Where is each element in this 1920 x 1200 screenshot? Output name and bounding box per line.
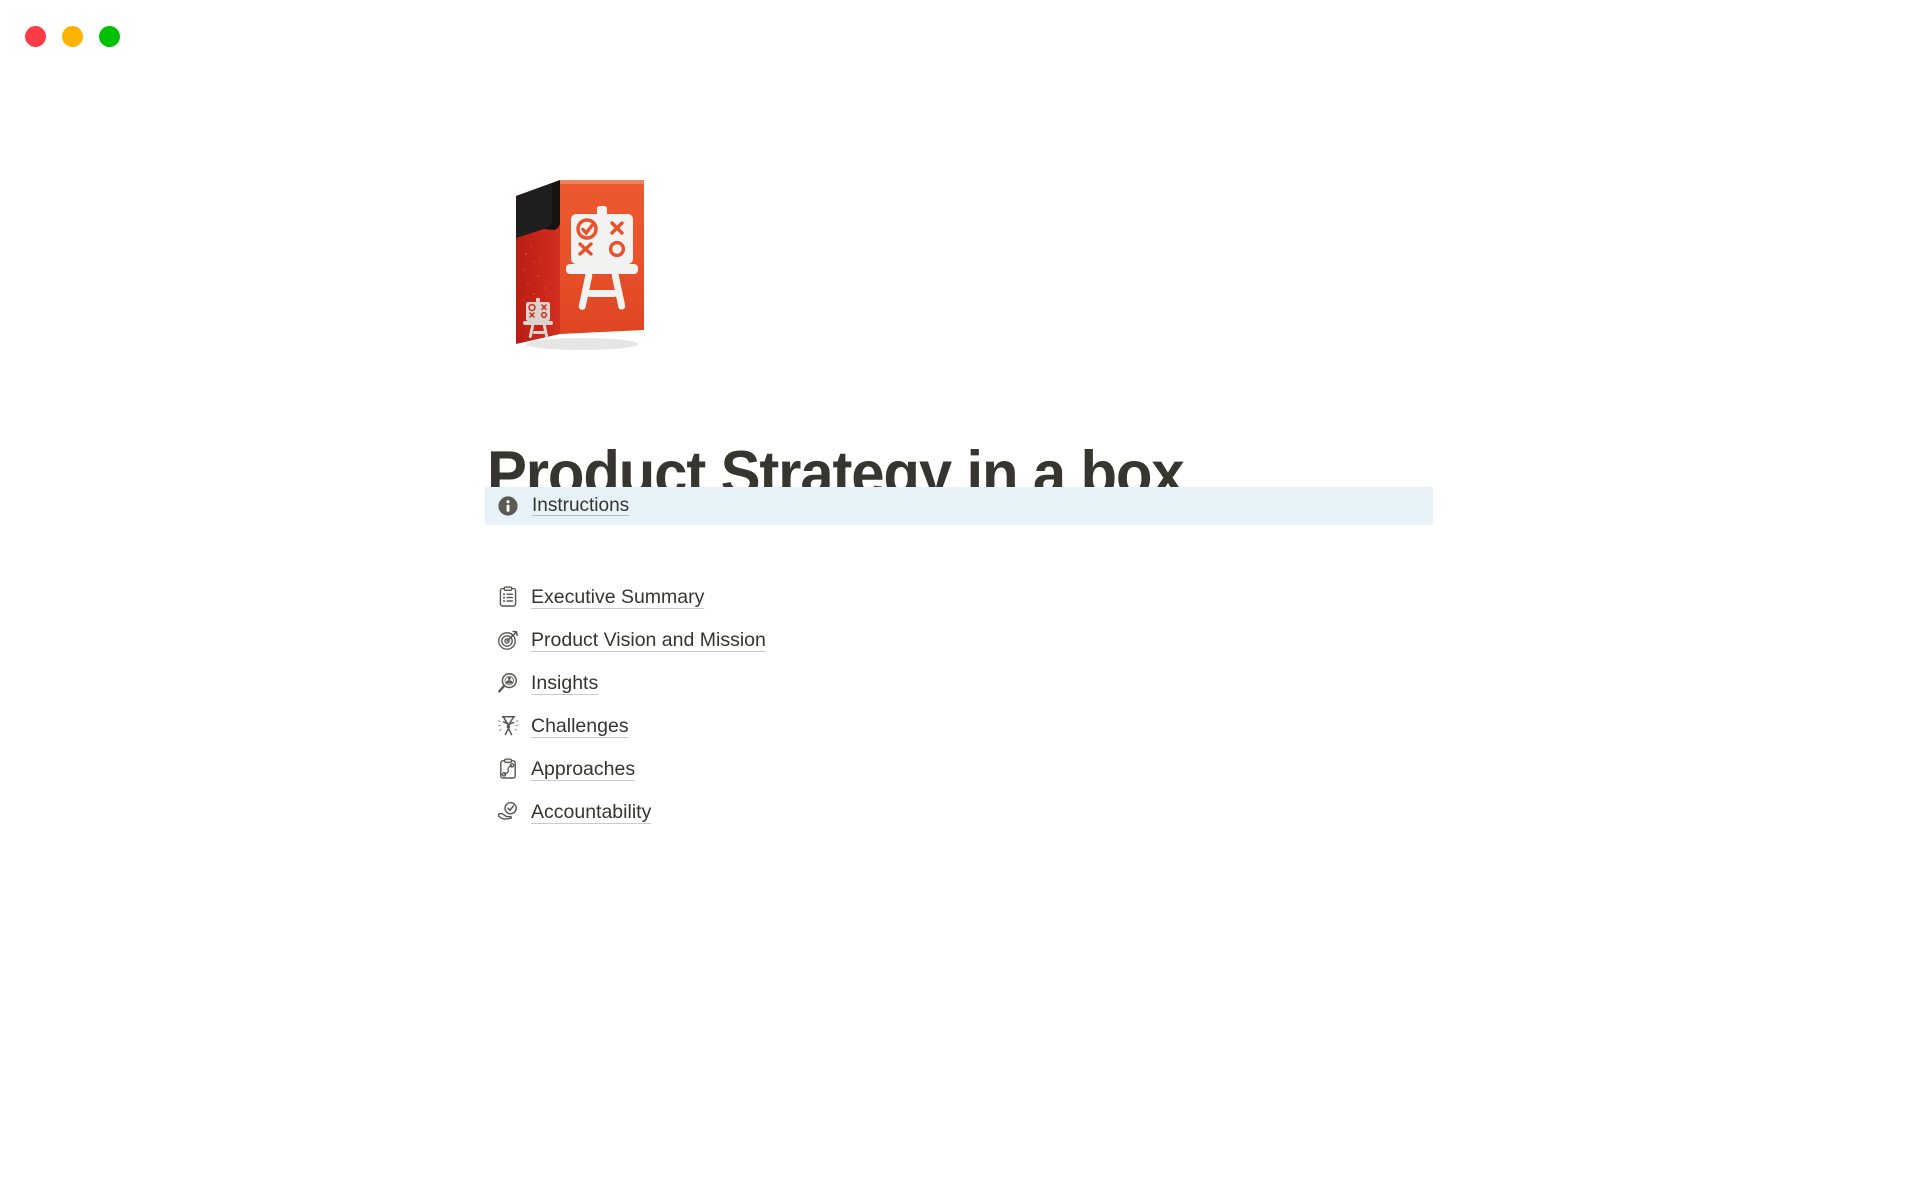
close-window-button[interactable]: [25, 26, 46, 47]
list-item-label[interactable]: Product Vision and Mission: [531, 628, 766, 652]
list-item[interactable]: Accountability: [497, 790, 1397, 833]
list-item-label[interactable]: Executive Summary: [531, 585, 704, 609]
list-item[interactable]: Executive Summary: [497, 575, 1397, 618]
list-item-label[interactable]: Approaches: [531, 757, 635, 781]
list-item[interactable]: Challenges: [497, 704, 1397, 747]
product-strategy-box-icon[interactable]: [504, 172, 656, 352]
traffic-light-group: [25, 26, 120, 47]
magnifying-glass-icon: [497, 672, 519, 694]
list-item[interactable]: Product Vision and Mission: [497, 618, 1397, 661]
clipboard-document-icon: [497, 586, 519, 608]
info-circle-icon: [497, 495, 519, 517]
window-title-bar: [0, 0, 1920, 74]
list-item-label[interactable]: Accountability: [531, 800, 651, 824]
instructions-callout[interactable]: Instructions: [485, 487, 1433, 525]
hand-check-icon: [497, 801, 519, 823]
climber-person-icon: [497, 715, 519, 737]
list-item[interactable]: Insights: [497, 661, 1397, 704]
page-canvas: Product Strategy in a box Instructions: [0, 0, 1920, 1200]
list-item-label[interactable]: Challenges: [531, 714, 629, 738]
list-item[interactable]: Approaches: [497, 747, 1397, 790]
instructions-label[interactable]: Instructions: [532, 495, 629, 517]
maximize-window-button[interactable]: [99, 26, 120, 47]
target-dart-icon: [497, 629, 519, 651]
clipboard-path-icon: [497, 758, 519, 780]
minimize-window-button[interactable]: [62, 26, 83, 47]
page-link-list: Executive Summary Product Vision and: [497, 575, 1397, 833]
list-item-label[interactable]: Insights: [531, 671, 598, 695]
